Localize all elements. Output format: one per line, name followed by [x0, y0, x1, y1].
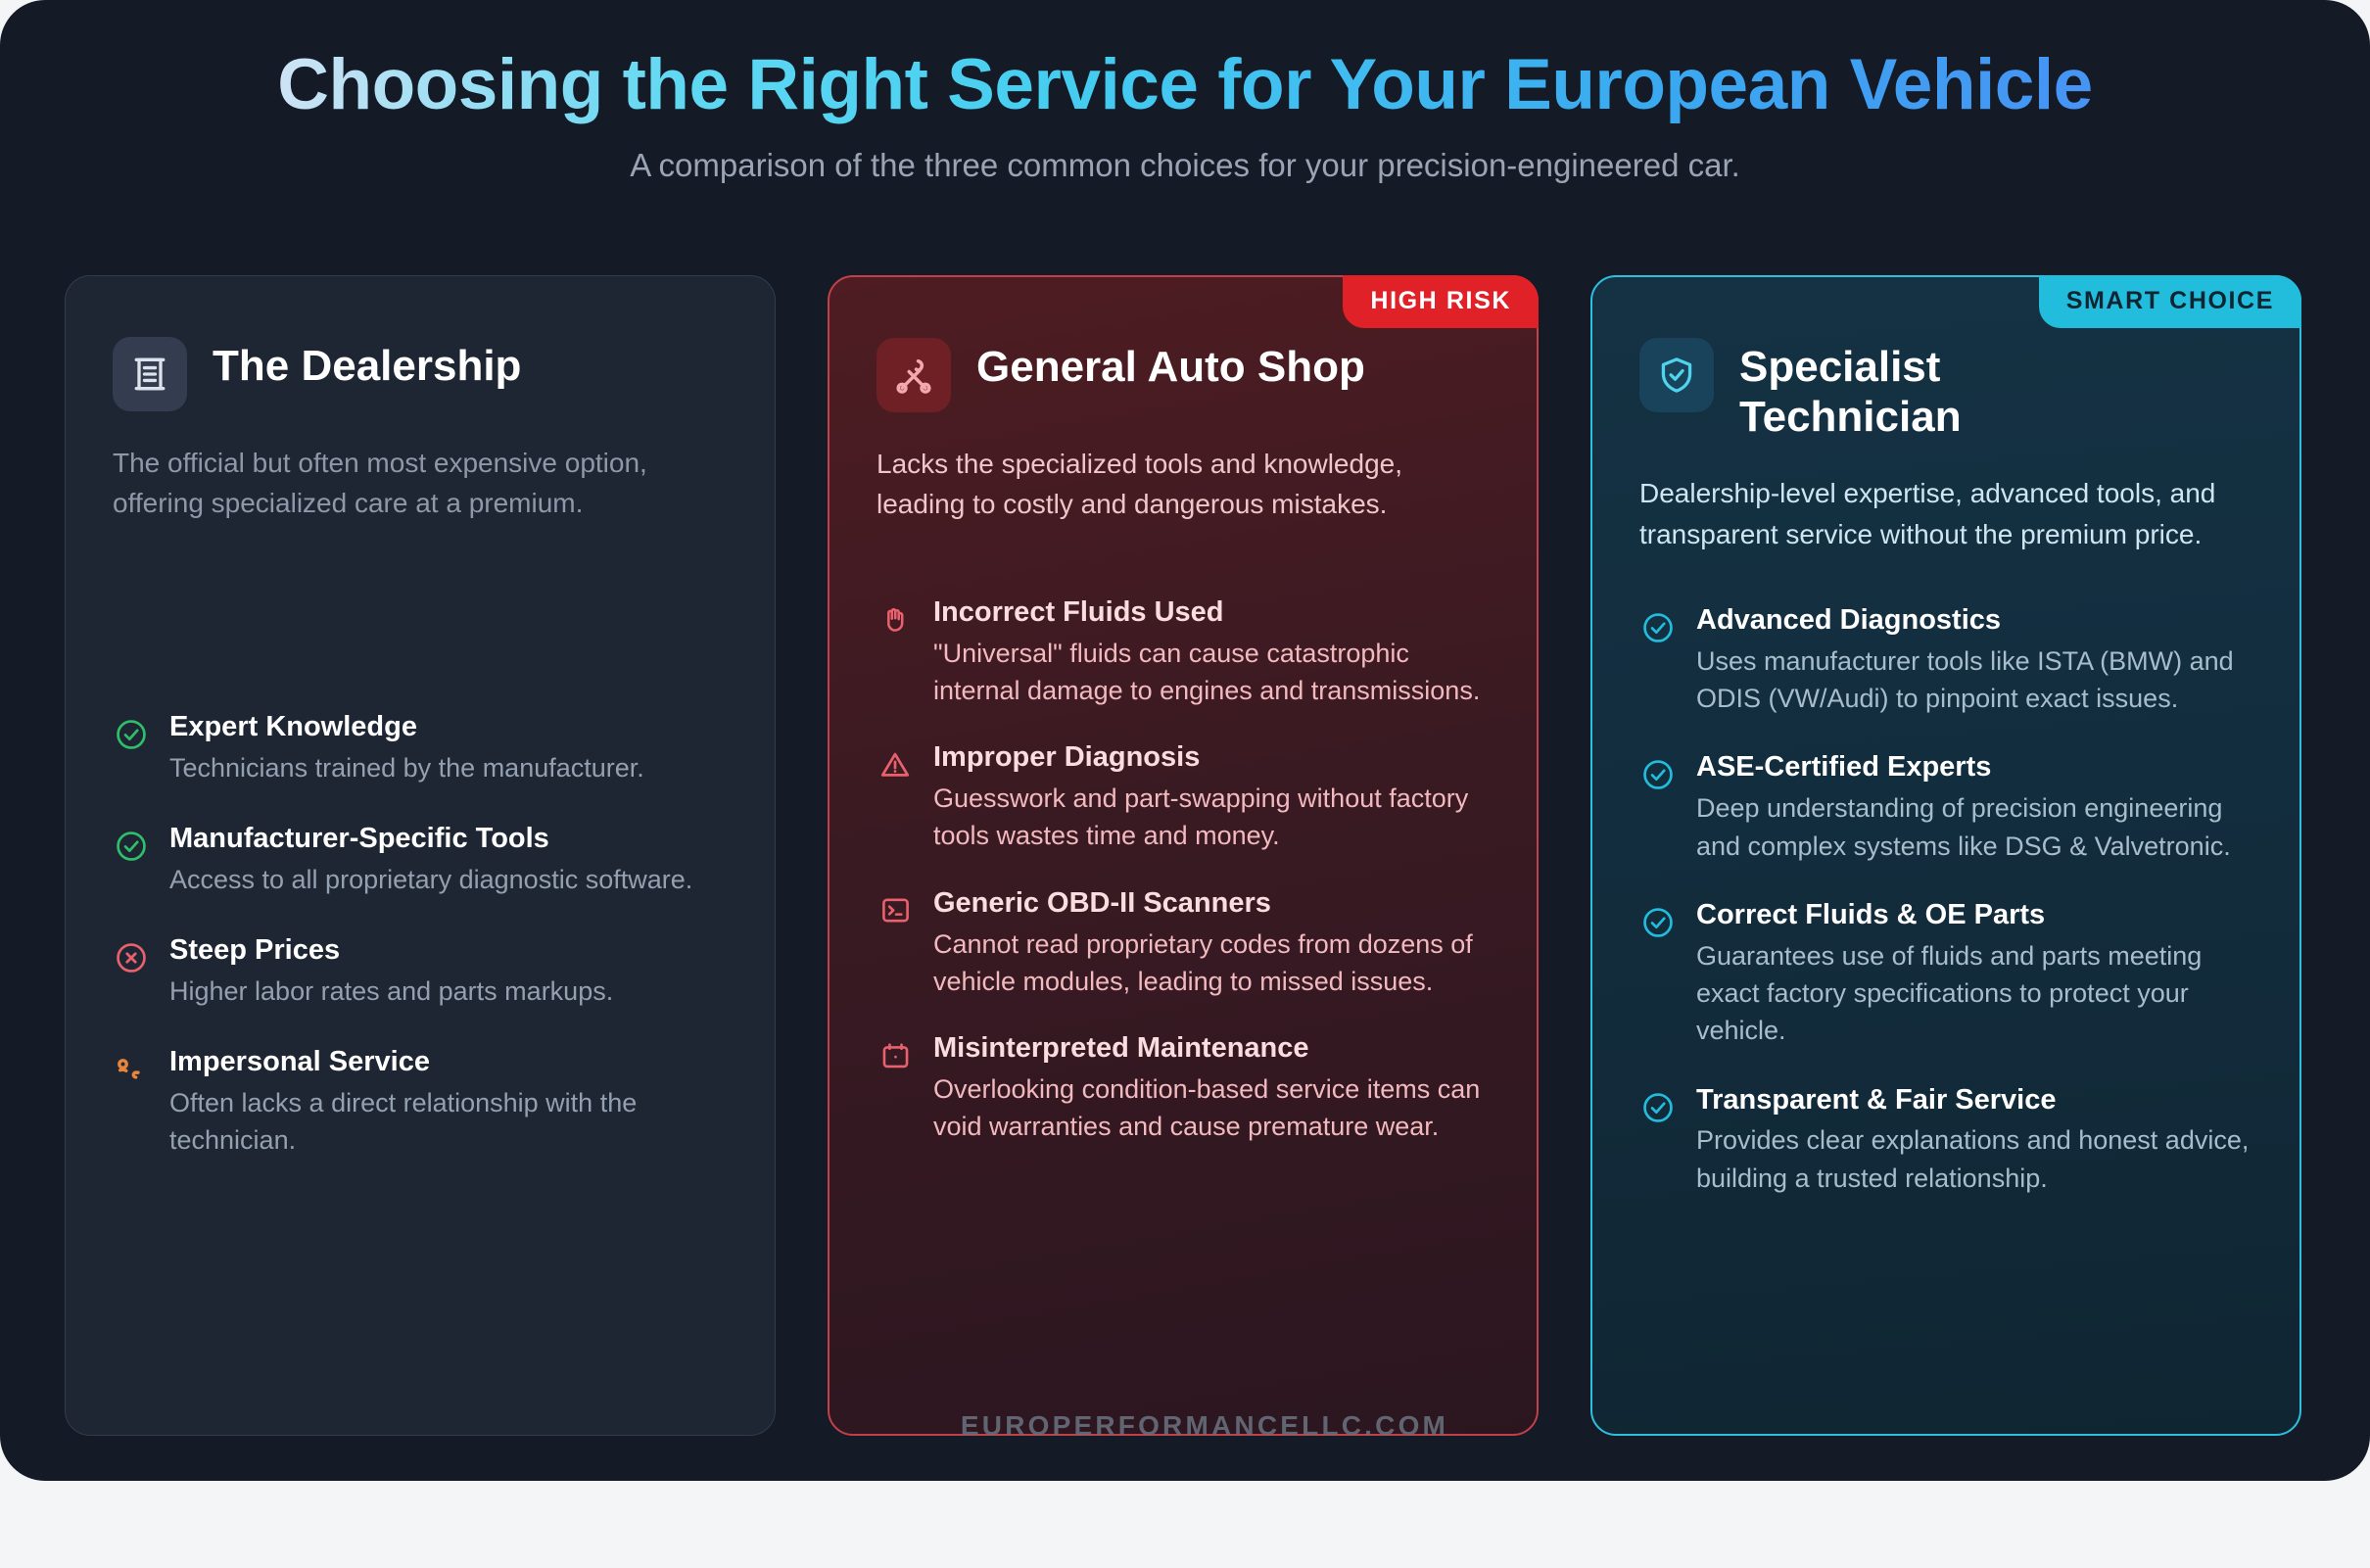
- card-header: The Dealership: [113, 337, 728, 411]
- card-header: Specialist Technician: [1639, 338, 2252, 442]
- feature-name: Expert Knowledge: [169, 710, 644, 744]
- feature-name: Incorrect Fluids Used: [933, 595, 1490, 630]
- feature-desc: Overlooking condition-based service item…: [933, 1070, 1490, 1146]
- feature-desc: Technicians trained by the manufacturer.: [169, 749, 644, 786]
- feature-desc: Access to all proprietary diagnostic sof…: [169, 861, 692, 898]
- feature-item: Correct Fluids & OE Parts Guarantees use…: [1639, 898, 2252, 1050]
- feature-name: Improper Diagnosis: [933, 740, 1490, 775]
- card-specialist-technician[interactable]: SMART CHOICE Specialist Technician Deale…: [1590, 275, 2301, 1436]
- card-subtitle: The official but often most expensive op…: [113, 443, 728, 524]
- feature-name: Correct Fluids & OE Parts: [1696, 898, 2252, 932]
- check-circle-icon: [1639, 609, 1677, 646]
- header: Choosing the Right Service for Your Euro…: [0, 0, 2370, 184]
- feature-name: Impersonal Service: [169, 1045, 728, 1079]
- feature-list: Incorrect Fluids Used "Universal" fluids…: [877, 595, 1490, 1146]
- feature-name: Advanced Diagnostics: [1696, 603, 2252, 638]
- feature-desc: Uses manufacturer tools like ISTA (BMW) …: [1696, 642, 2252, 718]
- check-circle-icon: [1639, 904, 1677, 941]
- feature-list: Expert Knowledge Technicians trained by …: [113, 710, 728, 1160]
- feature-name: Generic OBD-II Scanners: [933, 886, 1490, 921]
- feature-desc: Often lacks a direct relationship with t…: [169, 1084, 728, 1160]
- feature-desc: Provides clear explanations and honest a…: [1696, 1121, 2252, 1197]
- hand-stop-icon: [877, 601, 914, 639]
- card-title: The Dealership: [213, 337, 521, 391]
- feature-list: Advanced Diagnostics Uses manufacturer t…: [1639, 603, 2252, 1197]
- feature-name: Transparent & Fair Service: [1696, 1083, 2252, 1117]
- feature-name: Steep Prices: [169, 933, 613, 968]
- check-circle-icon: [1639, 756, 1677, 793]
- feature-name: Misinterpreted Maintenance: [933, 1031, 1490, 1066]
- feature-name: Manufacturer-Specific Tools: [169, 822, 692, 856]
- check-circle-icon: [113, 828, 150, 865]
- watermark: EUROPERFORMANCELLC.COM: [862, 1410, 1547, 1442]
- check-circle-icon: [113, 716, 150, 753]
- x-circle-icon: [113, 939, 150, 976]
- status-badge-high-risk: HIGH RISK: [1343, 275, 1539, 328]
- feature-desc: Cannot read proprietary codes from dozen…: [933, 926, 1490, 1001]
- shield-check-icon: [1639, 338, 1714, 412]
- status-badge-smart-choice: SMART CHOICE: [2039, 275, 2301, 328]
- card-title: General Auto Shop: [976, 338, 1365, 392]
- calendar-icon: [877, 1037, 914, 1074]
- receipt-building-icon: [113, 337, 187, 411]
- feature-desc: Higher labor rates and parts markups.: [169, 973, 613, 1010]
- terminal-icon: [877, 892, 914, 929]
- feature-item: Steep Prices Higher labor rates and part…: [113, 933, 728, 1010]
- feature-item: Misinterpreted Maintenance Overlooking c…: [877, 1031, 1490, 1145]
- card-dealership[interactable]: The Dealership The official but often mo…: [65, 275, 776, 1436]
- card-subtitle: Lacks the specialized tools and knowledg…: [877, 444, 1490, 525]
- page-title: Choosing the Right Service for Your Euro…: [0, 45, 2370, 125]
- card-header: General Auto Shop: [877, 338, 1490, 412]
- feature-item: Transparent & Fair Service Provides clea…: [1639, 1083, 2252, 1197]
- feature-desc: Guarantees use of fluids and parts meeti…: [1696, 937, 2252, 1050]
- check-circle-icon: [1639, 1089, 1677, 1126]
- feature-desc: Deep understanding of precision engineer…: [1696, 789, 2252, 865]
- feature-item: ASE-Certified Experts Deep understanding…: [1639, 750, 2252, 864]
- feature-item: Improper Diagnosis Guesswork and part-sw…: [877, 740, 1490, 854]
- card-subtitle: Dealership-level expertise, advanced too…: [1639, 473, 2252, 554]
- page-subtitle: A comparison of the three common choices…: [0, 147, 2370, 184]
- users-broken-icon: [113, 1051, 150, 1088]
- feature-name: ASE-Certified Experts: [1696, 750, 2252, 784]
- feature-item: Impersonal Service Often lacks a direct …: [113, 1045, 728, 1159]
- feature-item: Expert Knowledge Technicians trained by …: [113, 710, 728, 786]
- card-title: Specialist Technician: [1739, 338, 2131, 442]
- alert-triangle-icon: [877, 746, 914, 784]
- feature-item: Manufacturer-Specific Tools Access to al…: [113, 822, 728, 898]
- wrench-tools-icon: [877, 338, 951, 412]
- feature-desc: Guesswork and part-swapping without fact…: [933, 780, 1490, 855]
- feature-item: Incorrect Fluids Used "Universal" fluids…: [877, 595, 1490, 709]
- infographic-stage: Choosing the Right Service for Your Euro…: [0, 0, 2370, 1481]
- feature-desc: "Universal" fluids can cause catastrophi…: [933, 635, 1490, 710]
- comparison-cards: The Dealership The official but often mo…: [65, 275, 2305, 1436]
- card-general-auto-shop[interactable]: HIGH RISK General Auto Shop Lacks the sp…: [828, 275, 1539, 1436]
- feature-item: Generic OBD-II Scanners Cannot read prop…: [877, 886, 1490, 1000]
- feature-item: Advanced Diagnostics Uses manufacturer t…: [1639, 603, 2252, 717]
